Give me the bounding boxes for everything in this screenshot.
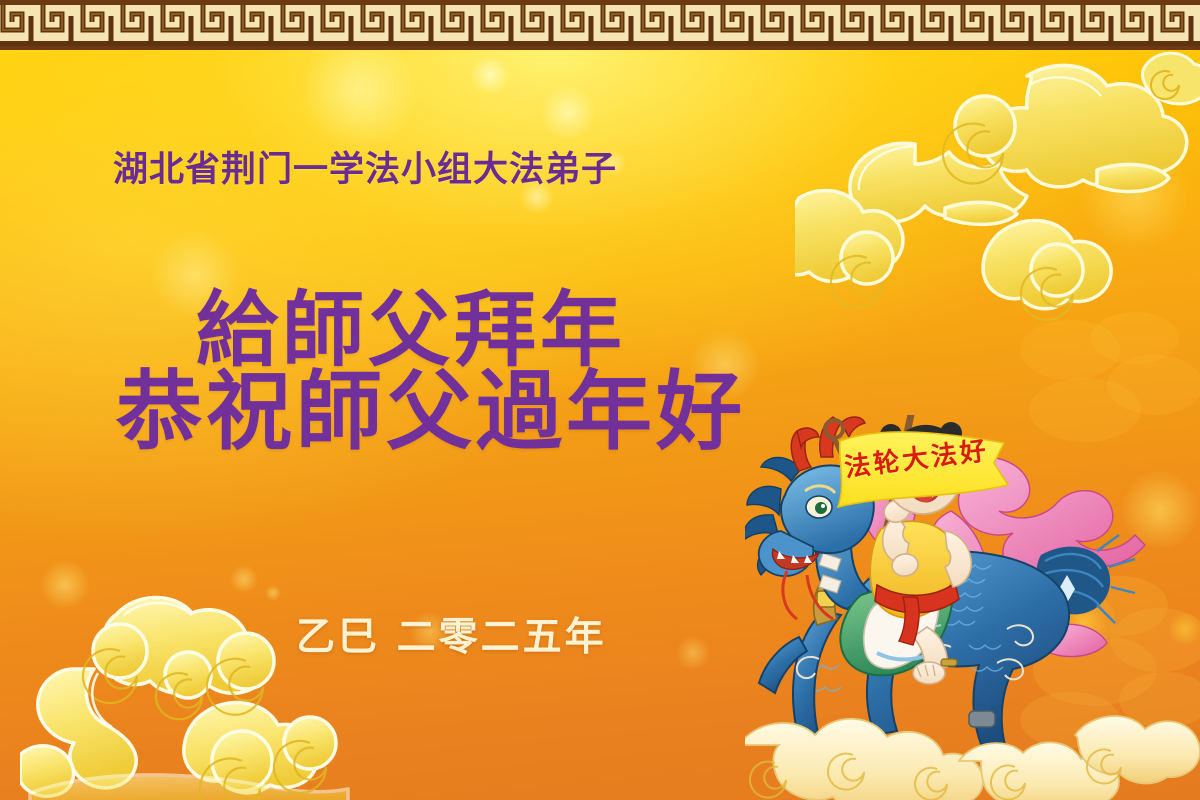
cloud-motif-bottom-left — [20, 565, 350, 800]
bokeh-light — [230, 565, 258, 593]
date-text: 乙巳 二零二五年 — [296, 606, 607, 662]
greeting-line-2: 恭祝師父過年好 — [116, 341, 746, 466]
page-title: 湖北省荆门一学法小组大法弟子 — [113, 141, 617, 192]
bokeh-light — [40, 560, 90, 610]
bokeh-light — [676, 636, 710, 670]
bokeh-light — [1080, 140, 1190, 250]
new-year-greeting-card: 湖北省荆门一学法小组大法弟子 給師父拜年 恭祝師父過年好 乙巳 二零二五年 — [0, 0, 1200, 800]
bokeh-light — [265, 585, 281, 601]
bokeh-light — [540, 85, 596, 141]
bokeh-light — [470, 55, 510, 95]
banner-flag: 法轮大法好 — [808, 415, 1038, 525]
top-meander-border — [0, 0, 1200, 50]
cloud-motif-top-right — [795, 48, 1200, 353]
